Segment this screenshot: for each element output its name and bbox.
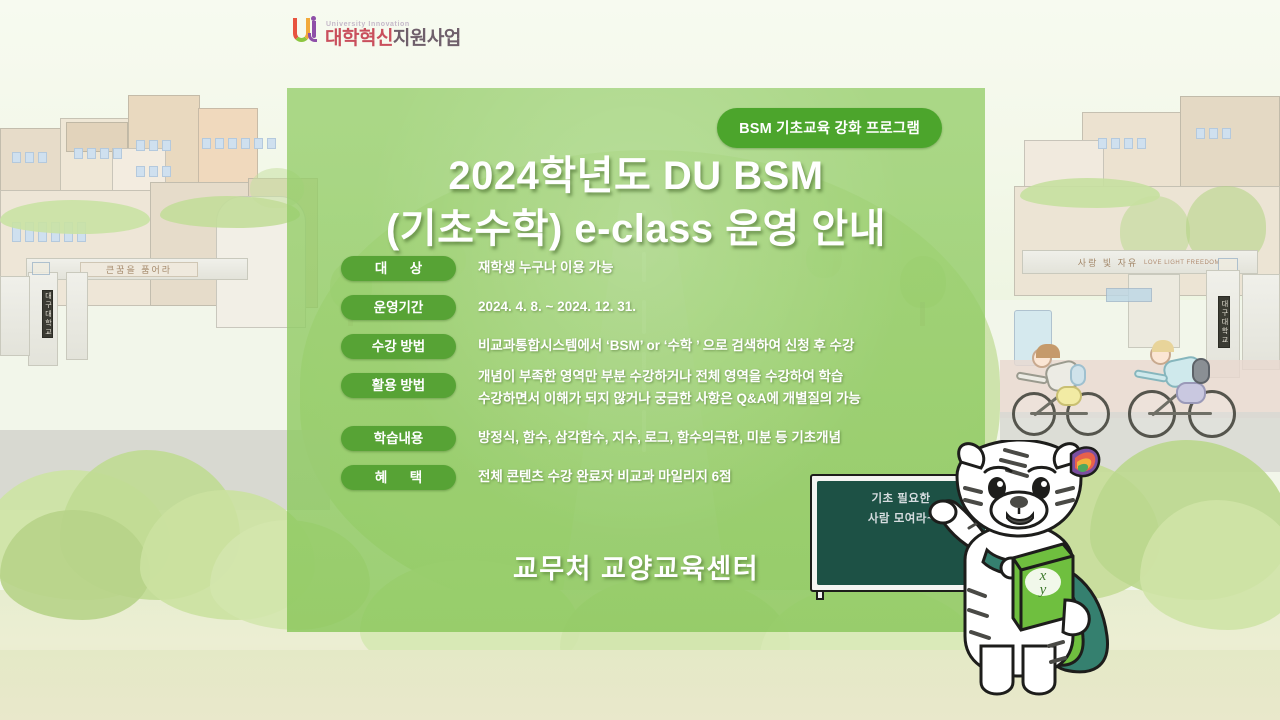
logo-uj-mark-icon (293, 16, 319, 48)
row-value-target: 재학생 누구나 이용 가능 (478, 256, 613, 279)
left-gate-pillar-2 (66, 272, 88, 360)
window (254, 138, 263, 149)
book-label-y: y (1038, 582, 1047, 598)
cyclist-leg (1056, 386, 1082, 406)
window (1124, 138, 1133, 149)
window (1111, 138, 1120, 149)
window-row-3 (136, 140, 171, 151)
cyclist-right (1128, 328, 1248, 452)
tiger-leg-right (1023, 646, 1055, 694)
eye-highlight-left (997, 481, 1003, 487)
cyclist-leg (1176, 382, 1206, 404)
row-label-curriculum: 학습내용 (341, 426, 456, 451)
window (241, 138, 250, 149)
tiger-nose (1010, 496, 1028, 508)
window (1222, 128, 1231, 139)
hedge (1020, 178, 1160, 208)
hedge (160, 196, 300, 228)
logo-text-block: University Innovation 대학혁신지원사업 (325, 21, 461, 48)
logo-korean-name: 대학혁신지원사업 (325, 29, 461, 48)
window (1196, 128, 1205, 139)
window (162, 166, 171, 177)
logo-j-icon (308, 16, 318, 44)
window-row-1 (12, 152, 47, 163)
row-label-period: 운영기간 (341, 295, 456, 320)
cyclist-arm (1016, 371, 1049, 384)
window (74, 148, 83, 159)
row-label-target: 대 상 (341, 256, 456, 281)
row-value-period: 2024. 4. 8. ~ 2024. 12. 31. (478, 295, 636, 318)
right-gate-sign-ko: 사랑 빛 자유 (1078, 254, 1138, 270)
window-row-5 (202, 138, 276, 149)
window (136, 140, 145, 151)
window (1137, 138, 1146, 149)
cyclist-hair (1152, 340, 1174, 352)
window (38, 152, 47, 163)
cyclist-hair (1036, 344, 1060, 358)
info-row-enrollment-method: 수강 방법 비교과통합시스템에서 ‘BSM’ or ‘수학 ’ 으로 검색하여 … (341, 334, 975, 359)
content-panel: BSM 기초교육 강화 프로그램 2024학년도 DU BSM (기초수학) e… (287, 88, 985, 632)
window (12, 152, 21, 163)
left-gate-sign: 큰꿈을 품어라 (80, 262, 198, 277)
window-row-2 (74, 148, 122, 159)
logo-j-hook (308, 33, 317, 42)
row-value-enrollment-method: 비교과통합시스템에서 ‘BSM’ or ‘수학 ’ 으로 검색하여 신청 후 수… (478, 334, 854, 357)
row-label-benefit: 혜 택 (341, 465, 456, 490)
logo-english-tagline: University Innovation (326, 21, 461, 28)
cyclist-left (1012, 330, 1122, 450)
window-row-8 (1196, 128, 1231, 139)
info-row-target: 대 상 재학생 누구나 이용 가능 (341, 256, 975, 281)
window-row-7 (1098, 138, 1146, 149)
info-rows: 대 상 재학생 누구나 이용 가능 운영기간 2024. 4. 8. ~ 202… (341, 256, 975, 504)
row-label-enrollment-method: 수강 방법 (341, 334, 456, 359)
left-pillar-plate: 대구대학교 (42, 290, 53, 338)
row-label-usage-method: 활용 방법 (341, 373, 456, 398)
hedge (0, 200, 150, 234)
right-gate-sign-en: LOVE LIGHT FREEDOM (1136, 256, 1228, 269)
tiger-leg-left (981, 646, 1013, 694)
left-gate-emblem (32, 262, 50, 275)
logo-korean-part1: 대학혁신 (325, 28, 393, 49)
logo-korean-part2: 지원사업 (393, 28, 461, 49)
campus-banner (1106, 288, 1152, 302)
window-row-4 (136, 166, 171, 177)
panel-inner: BSM 기초교육 강화 프로그램 2024학년도 DU BSM (기초수학) e… (287, 88, 985, 632)
program-badge: BSM 기초교육 강화 프로그램 (717, 108, 942, 148)
window (149, 166, 158, 177)
cyclist-backpack (1192, 358, 1210, 384)
row-value-benefit: 전체 콘텐츠 수강 완료자 비교과 마일리지 6점 (478, 465, 732, 488)
window (202, 138, 211, 149)
window (1209, 128, 1218, 139)
window (87, 148, 96, 159)
window (149, 140, 158, 151)
window (267, 138, 276, 149)
university-innovation-logo: University Innovation 대학혁신지원사업 (293, 16, 461, 48)
info-row-benefit: 혜 택 전체 콘텐츠 수강 완료자 비교과 마일리지 6점 (341, 465, 975, 490)
left-gate-wall (0, 276, 30, 356)
organization-name: 교무처 교양교육센터 (287, 547, 985, 586)
info-row-period: 운영기간 2024. 4. 8. ~ 2024. 12. 31. (341, 295, 975, 320)
window (100, 148, 109, 159)
poster-canvas: 큰꿈을 품어라 대구대학교 사랑 빛 자유 LOVE LIGHT FREEDOM… (0, 0, 1280, 720)
window (215, 138, 224, 149)
info-row-curriculum: 학습내용 방정식, 함수, 삼각함수, 지수, 로그, 함수의극한, 미분 등 … (341, 426, 975, 451)
window (136, 166, 145, 177)
window (25, 152, 34, 163)
window (1098, 138, 1107, 149)
window (162, 140, 171, 151)
eye-highlight-right (1041, 481, 1047, 487)
cyclist-backpack (1070, 364, 1086, 386)
row-value-curriculum: 방정식, 함수, 삼각함수, 지수, 로그, 함수의극한, 미분 등 기초개념 (478, 426, 841, 449)
page-title: 2024학년도 DU BSM (기초수학) e-class 운영 안내 (287, 150, 985, 256)
info-row-usage-method: 활용 방법 개념이 부족한 영역만 부분 수강하거나 전체 영역을 수강하여 학… (341, 373, 975, 410)
window (228, 138, 237, 149)
window (113, 148, 122, 159)
row-value-usage-method: 개념이 부족한 영역만 부분 수강하거나 전체 영역을 수강하여 학습 수강하면… (478, 365, 861, 410)
